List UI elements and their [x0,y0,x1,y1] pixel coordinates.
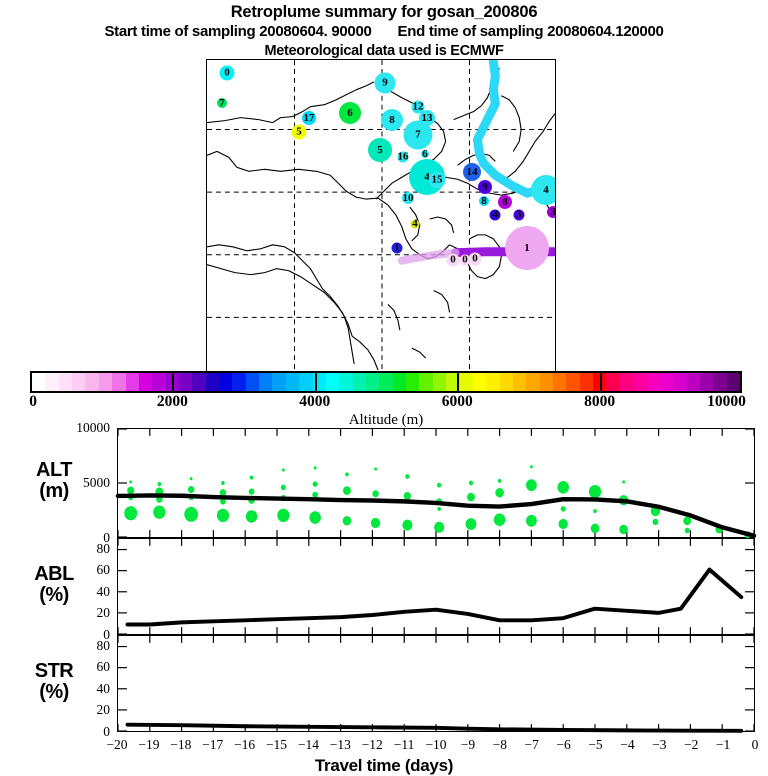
colorbar-band [727,373,740,391]
map-marker[interactable]: 5 [368,138,392,162]
x-tick-label: −3 [652,737,666,753]
map-marker-label: 4 [543,185,549,196]
alt-bubble [184,507,198,522]
met-data-label: Meteorological data used is ECMWF [0,42,768,60]
x-tick-label: −16 [234,737,255,753]
colorbar-band [232,373,245,391]
map-marker[interactable]: 8 [381,109,403,131]
title-block: Retroplume summary for gosan_200806 Star… [0,0,768,60]
map-marker-label: 8 [481,196,487,207]
y-tick-label: 40 [52,584,110,600]
alt-bubble [437,507,441,511]
colorbar-band [379,373,392,391]
x-axis-title: Travel time (days) [0,756,768,776]
map-marker-label: 8 [502,197,508,208]
colorbar-band [32,373,45,391]
x-tick-label: −6 [556,737,570,753]
x-tick-label: −8 [493,737,507,753]
x-tick-label: −12 [362,737,383,753]
x-tick-label: −18 [170,737,191,753]
alt-bubble [589,485,601,498]
colorbar-band [246,373,259,391]
map-marker-label: 4 [492,210,498,221]
y-tick-label: 80 [52,541,110,557]
colorbar-band [112,373,125,391]
colorbar-band [192,373,205,391]
x-tick-label: −17 [202,737,223,753]
alt-bubble [561,506,566,511]
alt-bubble [190,477,193,480]
map-marker-label: 6 [347,108,353,119]
map-marker-label: 9 [382,78,388,89]
alt-bubble [559,519,568,529]
colorbar-band [540,373,553,391]
map-marker[interactable]: 1 [505,226,549,270]
colorbar-band [713,373,726,391]
colorbar-band [152,373,165,391]
colorbar-tick: 8000 [584,393,615,411]
map-marker-label: 7 [219,98,225,109]
map-marker[interactable]: 6 [421,150,429,158]
alt-bubble [530,465,533,468]
x-tick-label: −2 [684,737,698,753]
map-marker-label: 9 [482,182,488,193]
map-marker[interactable]: 4 [490,210,501,221]
map-marker-label: 0 [224,68,230,79]
map-canvas [207,60,555,371]
alt-bubble [249,488,255,494]
colorbar-band [513,373,526,391]
map-marker-label: 0 [472,254,478,265]
colorbar-band [72,373,85,391]
alt-bubble [371,518,380,528]
map-marker[interactable]: 0 [220,66,235,81]
alt-bubble [314,466,317,469]
alt-bubble [343,516,352,525]
alt-bubble [467,493,475,502]
alt-bubble [374,467,377,470]
colorbar-band [687,373,700,391]
colorbar-band [566,373,579,391]
abl-plot-svg [118,539,754,634]
map-marker-label: 17 [304,113,315,124]
colorbar-band [606,373,619,391]
map-marker-label: 5 [377,145,383,156]
colorbar-band [633,373,646,391]
y-tick-label: 60 [52,659,110,675]
colorbar-band [433,373,446,391]
start-time-label: Start time of sampling 20080604. 90000 [104,22,371,42]
map-marker[interactable]: 6 [339,102,361,124]
colorbar-band [366,373,379,391]
x-tick-label: −4 [620,737,634,753]
colorbar-band [660,373,673,391]
alt-bubble [153,505,165,518]
map-marker[interactable]: 8 [479,196,489,206]
x-tick-label: −7 [525,737,539,753]
map-marker[interactable]: 17 [302,111,316,125]
alt-bubble [312,492,318,498]
alt-bubble [246,510,257,523]
y-tick-label: 20 [52,702,110,718]
colorbar-divider [457,371,459,393]
alt-bubble [498,479,502,483]
map-marker[interactable]: 15 [429,172,446,189]
colorbar-band [620,373,633,391]
colorbar-tick: 4000 [299,393,330,411]
colorbar-tick: 6000 [442,393,473,411]
alt-bubble [526,515,537,527]
alt-bubble [619,525,628,534]
alt-bubble [309,511,320,524]
map-marker-label: 7 [415,130,421,141]
colorbar-band [126,373,139,391]
colorbar-band [580,373,593,391]
map-marker[interactable]: 3 [514,210,525,221]
map-marker-label: 1 [394,243,400,254]
map-marker-label: 0 [450,255,456,266]
colorbar-band [526,373,539,391]
alt-bubble [282,468,285,471]
alt-bubble [345,472,349,476]
alt-bubble [405,474,409,479]
map-marker[interactable]: 1 [392,243,403,254]
alt-bubble [557,481,568,494]
alt-bubble [221,481,225,485]
colorbar-band [139,373,152,391]
colorbar-band [419,373,432,391]
timeseries-area: ALT(m) ABL(%) STR(%) 0500010000020406080… [0,424,768,768]
abl-plot-panel[interactable] [117,538,755,635]
x-tick-label: −19 [138,737,159,753]
coastlines [207,68,555,370]
map-marker[interactable]: 7 [217,98,227,108]
colorbar-divider [315,371,317,393]
map-marker-label: 3 [550,207,556,218]
colorbar-tick: 2000 [157,393,188,411]
map-marker-label: 10 [403,193,414,204]
colorbar-band [45,373,58,391]
map-marker[interactable]: 3 [547,206,556,218]
str-plot-svg [118,636,754,731]
colorbar-band [473,373,486,391]
graticule [207,60,555,371]
colorbar-band [647,373,660,391]
x-tick-label: −1 [716,737,730,753]
end-time-label: End time of sampling 20080604.120000 [398,22,664,42]
x-tick-label: −14 [298,737,319,753]
x-tick-label: −11 [394,737,415,753]
colorbar-band [673,373,686,391]
sampling-time-row: Start time of sampling 20080604. 90000 E… [0,22,768,42]
alt-bubble [217,509,229,522]
map-marker[interactable]: 9 [375,73,396,94]
alt-bubble [494,513,505,526]
colorbar-band [700,373,713,391]
retroplume-map[interactable]: 0791213176587516641514108984434326832110… [206,59,556,372]
alt-bubble [277,509,289,522]
colorbar-band [286,373,299,391]
alt-bubble [653,519,659,525]
map-marker-label: 15 [432,175,443,186]
alt-bubble [124,506,137,520]
alt-bubble [526,479,537,491]
colorbar-gradient [30,371,742,393]
map-marker-label: 14 [467,167,478,178]
colorbar-divider [172,371,174,393]
alt-bubble [683,516,691,525]
alt-bubble [622,480,625,483]
map-marker-label: 16 [398,152,409,163]
colorbar-band [326,373,339,391]
alt-plot-svg [118,429,754,537]
y-tick-label: 20 [52,605,110,621]
colorbar-tick: 10000 [707,393,746,411]
alt-bubble [434,522,444,533]
map-marker[interactable]: 4 [411,220,420,229]
alt-bubble [188,486,194,493]
colorbar-band [99,373,112,391]
colorbar-band [393,373,406,391]
map-marker-label: 1 [524,243,530,254]
colorbar-divider [600,371,602,393]
alt-bubble [250,476,254,480]
map-marker-label: 4 [412,219,418,230]
alt-bubble [466,518,477,530]
map-marker[interactable]: 8 [498,195,512,209]
abl-series-line [128,570,742,625]
map-marker[interactable]: 0 [447,254,460,267]
colorbar-band [299,373,312,391]
x-tick-label: −20 [106,737,127,753]
colorbar-band [179,373,192,391]
colorbar-band [353,373,366,391]
map-marker[interactable]: 16 [398,152,409,163]
map-marker[interactable]: 9 [478,180,492,194]
y-tick-label: 5000 [52,475,110,491]
colorbar-band [85,373,98,391]
colorbar-tick: 0 [29,393,37,411]
colorbar-band [406,373,419,391]
alt-bubble [495,488,504,497]
x-tick-label: −9 [461,737,475,753]
alt-bubble [372,490,378,497]
alt-bubble [593,509,597,513]
colorbar-band [460,373,473,391]
x-tick-label: −15 [266,737,287,753]
map-marker[interactable]: 7 [404,121,433,150]
map-marker-label: 6 [422,149,428,160]
colorbar-band [59,373,72,391]
x-tick-label: −5 [588,737,602,753]
map-marker-label: 0 [462,255,468,266]
map-marker-label: 3 [516,210,522,221]
colorbar-band [339,373,352,391]
map-marker[interactable]: 0 [469,253,482,266]
alt-bubble [343,486,351,495]
alt-bubble [591,524,600,533]
map-marker[interactable]: 4 [531,175,556,205]
y-tick-label: 0 [52,724,110,740]
alt-plot-panel[interactable] [117,428,755,538]
alt-bubble [469,481,473,486]
colorbar-band [486,373,499,391]
map-marker[interactable]: 5 [292,125,307,140]
alt-bubble [158,482,162,486]
colorbar-band [206,373,219,391]
y-tick-label: 60 [52,562,110,578]
str-plot-panel[interactable] [117,635,755,732]
alt-bubble [313,481,318,486]
alt-bubble [402,520,412,531]
alt-bubble [127,487,134,495]
alt-bubble [281,485,286,490]
map-marker-label: 5 [296,127,302,138]
y-tick-label: 80 [52,638,110,654]
x-tick-label: 0 [752,737,759,753]
colorbar-band [219,373,232,391]
alt-bubble [685,528,690,533]
x-tick-label: −13 [330,737,351,753]
colorbar-band [272,373,285,391]
alt-bubble [129,480,132,483]
altitude-colorbar: 0200040006000800010000 Altitude (m) [30,371,742,429]
y-tick-label: 10000 [52,420,110,436]
page-title: Retroplume summary for gosan_200806 [0,0,768,22]
colorbar-tick-labels: 0200040006000800010000 [30,393,742,411]
str-series-line [128,725,742,731]
colorbar-band [553,373,566,391]
map-marker[interactable]: 10 [402,192,414,204]
colorbar-band [259,373,272,391]
alt-bubble [404,492,411,500]
x-tick-label: −10 [425,737,446,753]
map-marker[interactable]: 14 [463,163,481,181]
alt-bubble [437,483,441,488]
map-marker-label: 8 [389,115,395,126]
y-tick-label: 40 [52,681,110,697]
colorbar-band [500,373,513,391]
